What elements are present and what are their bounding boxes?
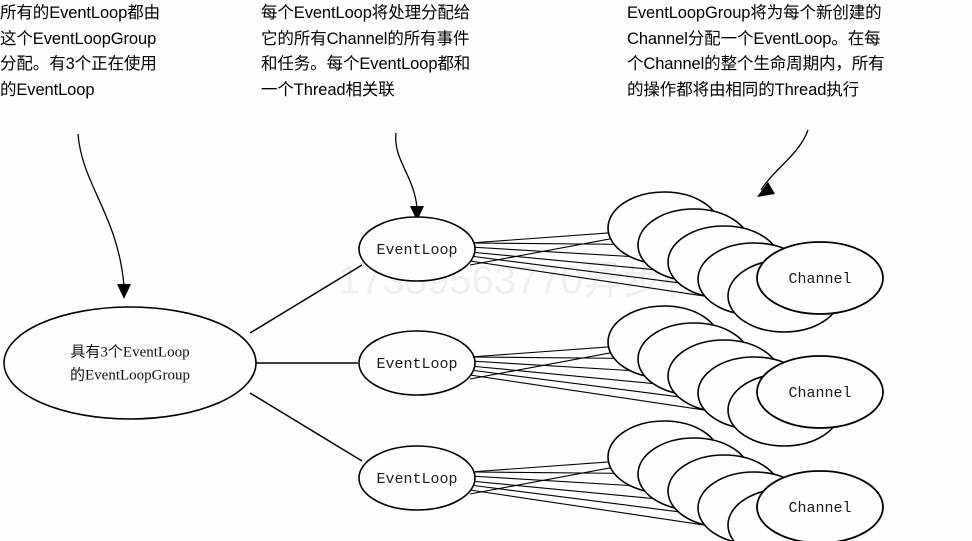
callout-arrow-group (78, 134, 131, 299)
eventloop-label-2: EventLoop (376, 356, 457, 373)
callout-arrow-eventloop (396, 133, 424, 221)
eventloopgroup-label-line1: 具有3个EventLoop (70, 343, 189, 360)
eventloop-label-1: EventLoop (376, 242, 457, 259)
arrowhead-icon (757, 182, 775, 197)
eventloopgroup-ellipse[interactable] (4, 307, 256, 419)
arrowhead-icon (117, 284, 131, 299)
diagram-graphic: 17359563770异步社区 (0, 0, 972, 541)
callout-arrow-channel (757, 130, 808, 197)
diagram-canvas: 所有的EventLoop都由 这个EventLoopGroup 分配。有3个正在… (0, 0, 972, 541)
channel-label: Channel (788, 271, 851, 288)
channel-label: Channel (788, 385, 851, 402)
channel-label: Channel (788, 500, 851, 517)
eventloop-label-3: EventLoop (376, 471, 457, 488)
channel-stack-3: Channel (608, 421, 883, 541)
eventloopgroup-node[interactable]: 具有3个EventLoop 的EventLoopGroup (4, 307, 256, 419)
eventloopgroup-label-line2: 的EventLoopGroup (70, 366, 190, 383)
